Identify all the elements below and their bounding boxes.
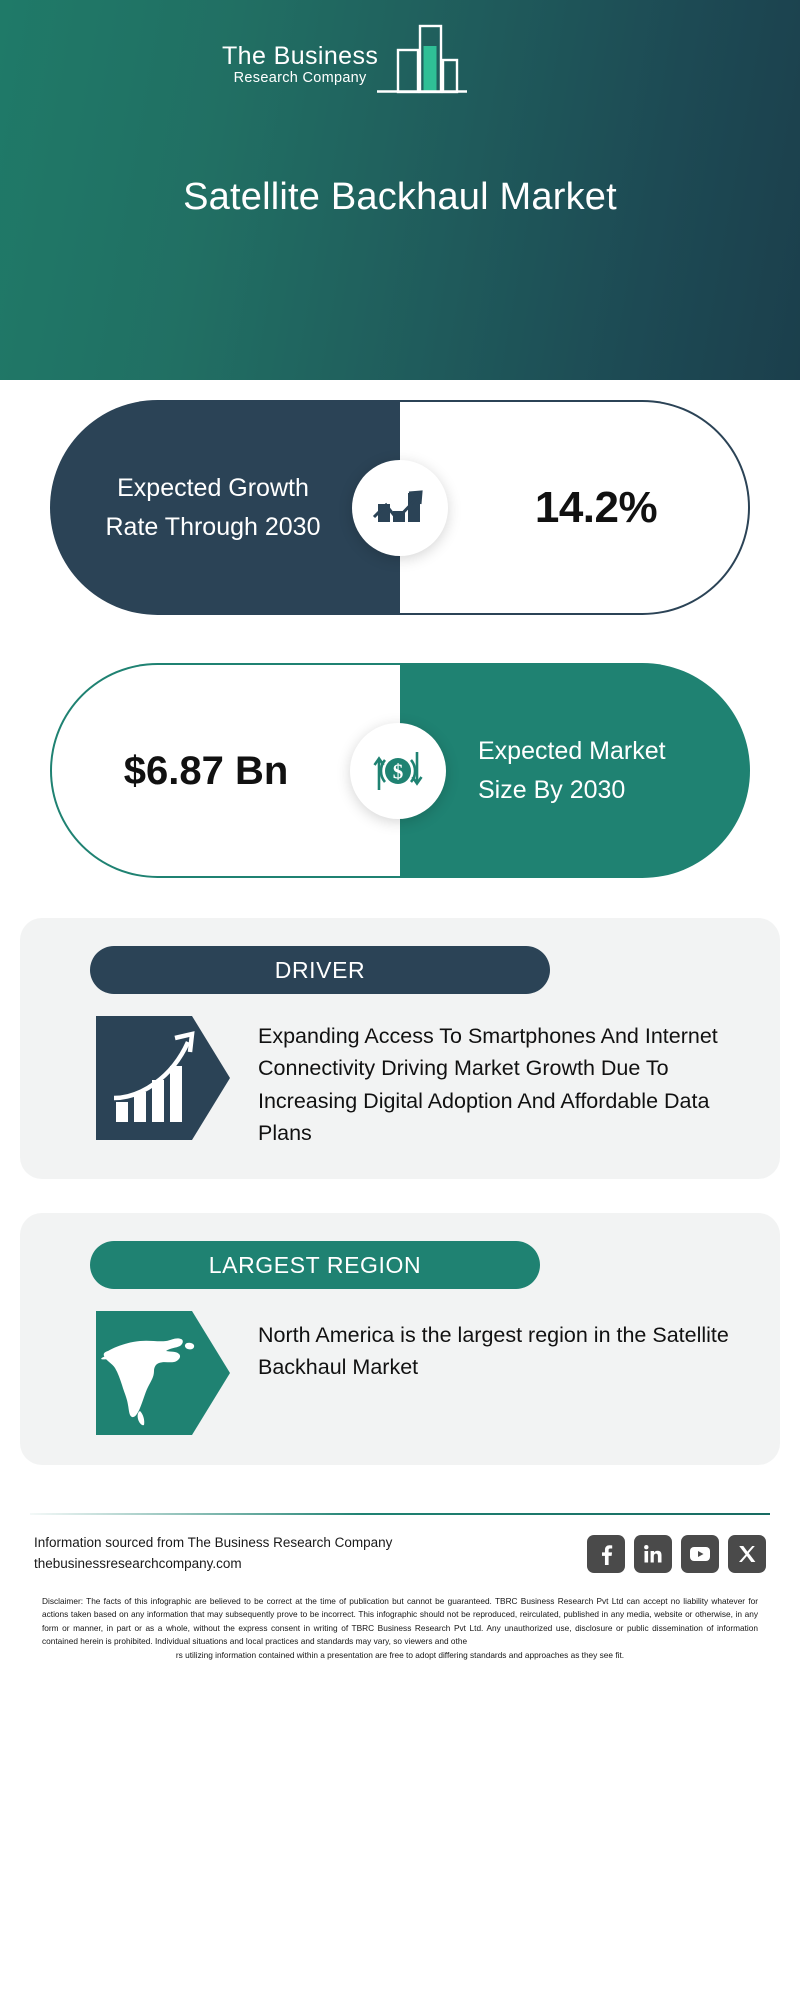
dollar-circular-arrows-icon: $: [350, 723, 446, 819]
stat-card-value: 14.2%: [491, 483, 657, 533]
largest-region-heading-label: LARGEST REGION: [209, 1252, 421, 1279]
linkedin-icon[interactable]: [634, 1535, 672, 1573]
stat-card-value-panel: 14.2%: [400, 400, 750, 615]
footer: Information sourced from The Business Re…: [20, 1515, 780, 1575]
north-america-map-icon: [96, 1311, 230, 1435]
stat-card-label: Expected Market Size By 2030: [450, 732, 700, 810]
stat-card-value: $6.87 Bn: [101, 744, 351, 798]
bar-chart-growth-arrow-icon: [352, 460, 448, 556]
page-title: Satellite Backhaul Market: [0, 0, 800, 380]
stat-card-label-panel: Expected Market Size By 2030: [400, 663, 750, 878]
infographic-page: The Business Research Company Satellite …: [0, 0, 800, 2000]
stat-card-label-panel: Expected Growth Rate Through 2030: [50, 400, 400, 615]
stat-card-growth-rate: Expected Growth Rate Through 2030 14.2%: [50, 400, 750, 615]
youtube-icon[interactable]: [681, 1535, 719, 1573]
largest-region-text: North America is the largest region in t…: [258, 1311, 746, 1384]
stat-cards: Expected Growth Rate Through 2030 14.2% …: [0, 400, 800, 878]
growth-bar-chart-arrow-icon: [96, 1016, 230, 1140]
driver-panel: DRIVER Expanding Access To Smartphones A…: [20, 918, 780, 1179]
social-links: [587, 1535, 766, 1573]
disclaimer: Disclaimer: The facts of this infographi…: [24, 1575, 776, 1662]
largest-region-body: North America is the largest region in t…: [20, 1289, 780, 1435]
largest-region-heading-pill: LARGEST REGION: [90, 1241, 540, 1289]
driver-text: Expanding Access To Smartphones And Inte…: [258, 1016, 746, 1149]
driver-heading-pill: DRIVER: [90, 946, 550, 994]
facebook-icon[interactable]: [587, 1535, 625, 1573]
svg-text:$: $: [393, 759, 404, 783]
driver-heading-label: DRIVER: [275, 957, 366, 984]
header-banner: The Business Research Company Satellite …: [0, 0, 800, 380]
footer-source: Information sourced from The Business Re…: [34, 1533, 392, 1575]
footer-divider-wrap: [30, 1465, 770, 1515]
disclaimer-text: Disclaimer: The facts of this infographi…: [42, 1596, 758, 1646]
driver-body: Expanding Access To Smartphones And Inte…: [20, 994, 780, 1149]
footer-source-line2[interactable]: thebusinessresearchcompany.com: [34, 1554, 392, 1575]
stat-card-label: Expected Growth Rate Through 2030: [90, 469, 360, 547]
x-twitter-icon[interactable]: [728, 1535, 766, 1573]
stat-card-market-size: $6.87 Bn Expected Market Size By 2030 $: [50, 663, 750, 878]
disclaimer-text-last-line: rs utilizing information contained withi…: [42, 1649, 758, 1662]
largest-region-panel: LARGEST REGION North America is the larg…: [20, 1213, 780, 1465]
footer-source-line1: Information sourced from The Business Re…: [34, 1533, 392, 1554]
stat-card-value-panel: $6.87 Bn: [50, 663, 400, 878]
